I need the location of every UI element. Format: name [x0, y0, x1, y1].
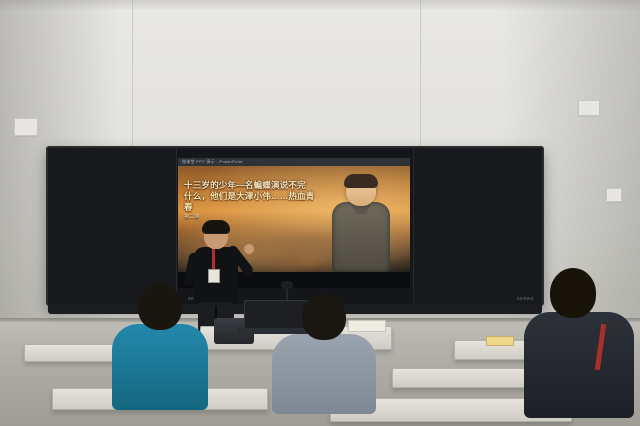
wall-socket-plate [14, 118, 38, 136]
teacher-id-badge [208, 269, 220, 283]
portrait-hair [344, 174, 378, 188]
slide-portrait-icon [330, 176, 392, 272]
student-left-shoulders [112, 324, 208, 410]
wall-socket-plate [578, 100, 600, 116]
slide-heading-line-1: 十三岁的少年—名蝙蝶演说不完 [184, 180, 316, 191]
teacher-lanyard [212, 248, 215, 270]
wall-switch-plate [606, 188, 622, 202]
student-right-head [550, 268, 596, 318]
student-left-label: teal blue t-shirt [112, 284, 113, 285]
classroom-photo: 微课堂 PPT 演示 - PowerPoint 十三岁的少年—名蝙蝶演说不完 什… [0, 0, 640, 426]
yellow-notebook [486, 336, 514, 346]
student-center-label: light grey t-shirt [272, 294, 273, 295]
student-left-head [138, 284, 182, 330]
student-right-shoulders [524, 312, 634, 418]
student-right-label: dark navy shirt, red lanyard [524, 268, 525, 269]
teacher-hand [244, 244, 254, 254]
display-right-blackboard-panel [413, 148, 542, 304]
student-right: dark navy shirt, red lanyard [524, 268, 634, 418]
student-center: light grey t-shirt [272, 294, 376, 414]
student-left: teal blue t-shirt [112, 284, 208, 410]
display-left-blackboard-panel [48, 148, 177, 304]
student-center-head [302, 294, 346, 340]
student-center-shoulders [272, 334, 376, 414]
student-desk-mid [392, 368, 544, 388]
interactive-display[interactable]: 微课堂 PPT 演示 - PowerPoint 十三岁的少年—名蝙蝶演说不完 什… [46, 146, 544, 306]
slide-heading-line-2: 什么，他们是大津小伟……热血青春 [184, 191, 316, 213]
teacher-hair [202, 220, 230, 234]
glasses-icon [205, 233, 227, 239]
teacher-role-label: Presenter standing at front, arm raised [186, 222, 187, 223]
presentation-titlebar: 微课堂 PPT 演示 - PowerPoint [178, 158, 410, 166]
student-desk-left [24, 344, 122, 362]
slide-heading: 十三岁的少年—名蝙蝶演说不完 什么，他们是大津小伟……热血青春 [184, 180, 316, 213]
microphone-icon [281, 281, 293, 289]
